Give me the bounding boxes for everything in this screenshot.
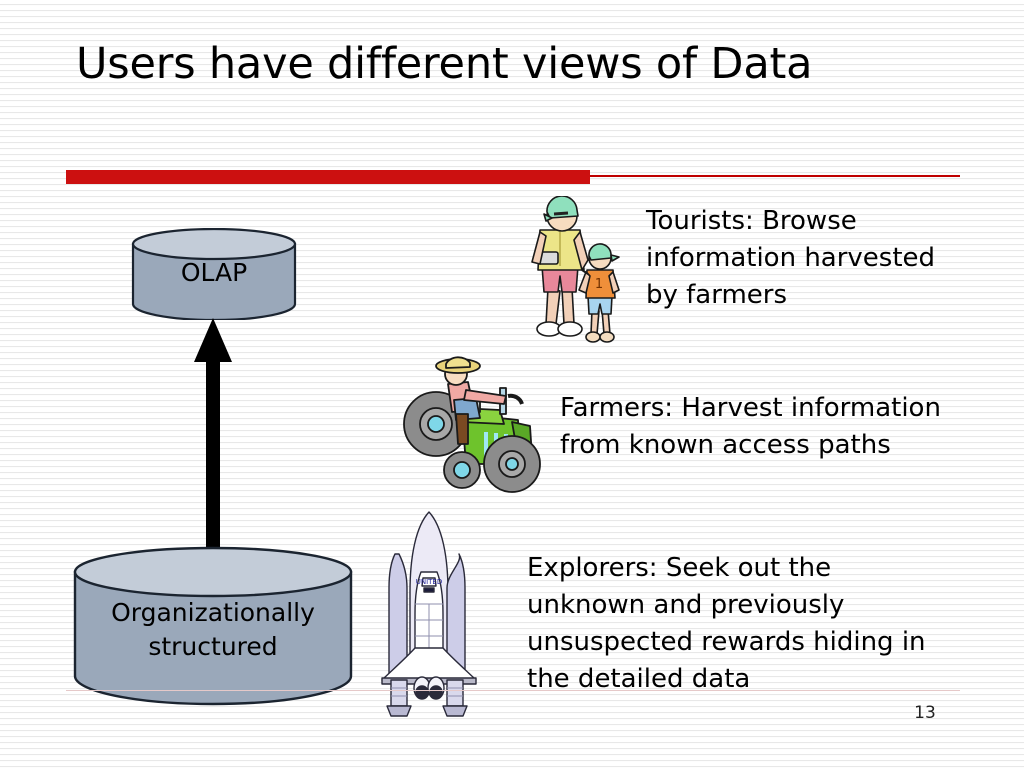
slide-canvas: Users have different views of Data OLAP … [0, 0, 1024, 768]
olap-cylinder-label: OLAP [131, 258, 297, 288]
space-shuttle-clipart-icon: UNITED [376, 508, 482, 720]
organizationally-structured-cylinder: Organizationally structured [73, 546, 353, 708]
tourists-description: Tourists: Browse information harvested b… [646, 203, 1016, 314]
title-divider-bar [66, 170, 590, 184]
explorers-description: Explorers: Seek out the unknown and prev… [527, 550, 1007, 698]
footer-divider [66, 690, 960, 691]
svg-text:UNITED: UNITED [416, 578, 443, 586]
title-divider [66, 170, 960, 184]
farmers-description: Farmers: Harvest information from known … [560, 390, 1024, 464]
page-number: 13 [900, 703, 950, 723]
page-title: Users have different views of Data [76, 36, 956, 93]
flow-arrow-up [186, 318, 240, 578]
organizationally-structured-label: Organizationally structured [73, 596, 353, 664]
tractor-clipart-icon [400, 352, 546, 502]
tourists-clipart-icon: 1 [516, 196, 624, 344]
olap-cylinder: OLAP [131, 228, 297, 320]
svg-text:1: 1 [595, 277, 603, 292]
